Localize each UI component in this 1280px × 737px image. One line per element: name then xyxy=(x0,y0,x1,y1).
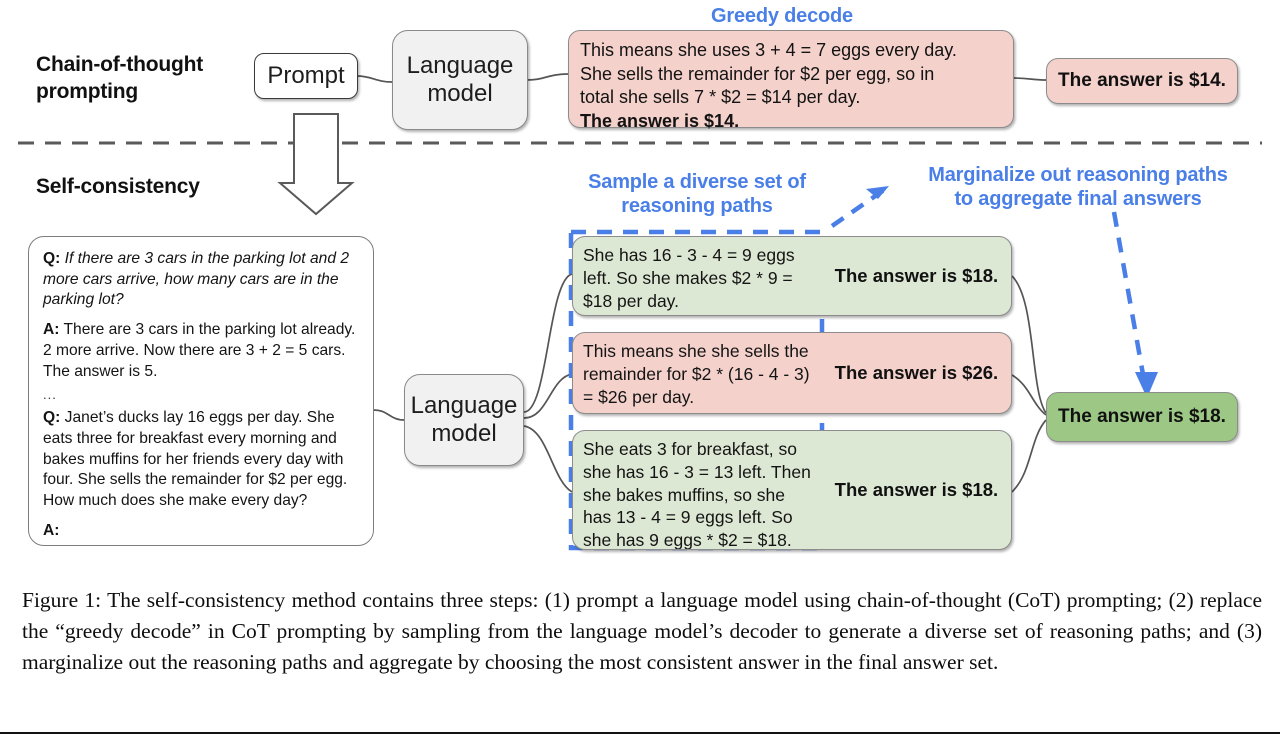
connector-path-3-to-final xyxy=(1012,420,1046,492)
reasoning-path-2-line-2: remainder for $2 * (16 - 4 - 3) xyxy=(583,363,813,386)
figure-1-self-consistency-diagram: Chain-of-thought prompting Prompt Langua… xyxy=(0,0,1280,737)
q1-label: Q: xyxy=(43,250,60,267)
figure-caption: Figure 1: The self-consistency method co… xyxy=(22,585,1262,678)
reasoning-path-row-3: She eats 3 for breakfast, so she has 16 … xyxy=(572,430,1012,550)
reasoning-path-2-text: This means she she sells the remainder f… xyxy=(573,333,822,413)
prompt-card-question-1: Q: If there are 3 cars in the parking lo… xyxy=(43,249,359,311)
cot-output-box: This means she uses 3 + 4 = 7 eggs every… xyxy=(568,30,1014,128)
reasoning-path-1-line-1: She has 16 - 3 - 4 = 9 eggs xyxy=(583,244,813,267)
prompt-box[interactable]: Prompt xyxy=(254,53,358,99)
cot-output-line-1: This means she uses 3 + 4 = 7 eggs every… xyxy=(580,39,1003,63)
sample-paths-header-line-2: reasoning paths xyxy=(568,194,826,218)
reasoning-path-2-answer-text: The answer is $26. xyxy=(835,362,999,384)
a1-label: A: xyxy=(43,321,59,338)
sc-language-model-label-line-1: Language xyxy=(411,392,518,420)
reasoning-path-3-line-1: She eats 3 for breakfast, so xyxy=(583,438,813,461)
marginalize-header: Marginalize out reasoning paths to aggre… xyxy=(890,163,1266,212)
marginalize-pointer-arrowhead xyxy=(866,186,889,199)
reasoning-path-1-answer-text: The answer is $18. xyxy=(835,265,999,287)
figure-caption-label: Figure 1: xyxy=(22,588,101,612)
reasoning-path-2-line-3: = $26 per day. xyxy=(583,386,813,409)
prompt-card-question-2: Q: Janet’s ducks lay 16 eggs per day. Sh… xyxy=(43,408,359,512)
reasoning-path-1-text: She has 16 - 3 - 4 = 9 eggs left. So she… xyxy=(573,237,822,315)
cot-section-title-line-1: Chain-of-thought xyxy=(36,52,276,79)
cot-output-line-3: total she sells 7 * $2 = $14 per day. xyxy=(580,86,1003,110)
cot-output-line-2: She sells the remainder for $2 per egg, … xyxy=(580,63,1003,87)
cot-section-title-line-2: prompting xyxy=(36,79,276,106)
marginalize-header-line-2: to aggregate final answers xyxy=(890,187,1266,211)
cot-language-model-box[interactable]: Language model xyxy=(392,30,528,130)
reasoning-path-3-line-2: she has 16 - 3 = 13 left. Then xyxy=(583,461,813,484)
reasoning-path-3-line-3: she bakes muffins, so she xyxy=(583,484,813,507)
few-shot-prompt-card: Q: If there are 3 cars in the parking lo… xyxy=(28,236,374,546)
marginalize-header-line-1: Marginalize out reasoning paths xyxy=(890,163,1266,187)
q2-text: Janet’s ducks lay 16 eggs per day. She e… xyxy=(43,409,347,509)
greedy-decode-header: Greedy decode xyxy=(632,4,932,28)
connector-model-to-path-2 xyxy=(524,374,572,418)
connector-card-to-model xyxy=(374,410,404,420)
a2-label: A: xyxy=(43,522,59,539)
reasoning-path-2-answer: The answer is $26. xyxy=(822,333,1011,413)
aggregated-final-answer-text: The answer is $18. xyxy=(1058,406,1226,428)
q1-text: If there are 3 cars in the parking lot a… xyxy=(43,250,349,308)
prompt-box-label: Prompt xyxy=(267,62,344,90)
self-consistency-section-title: Self-consistency xyxy=(36,174,336,201)
reasoning-path-3-answer-text: The answer is $18. xyxy=(835,479,999,501)
cot-section-title: Chain-of-thought prompting xyxy=(36,52,276,106)
connector-path-1-to-final xyxy=(1012,276,1046,413)
marginalize-pointer-arrow xyxy=(832,190,884,226)
aggregated-final-answer-box: The answer is $18. xyxy=(1046,392,1238,442)
cot-final-answer-text: The answer is $14. xyxy=(1058,70,1226,92)
connector-prompt-to-model xyxy=(357,76,392,82)
self-consistency-language-model-box[interactable]: Language model xyxy=(404,374,524,466)
a1-text: There are 3 cars in the parking lot alre… xyxy=(43,321,355,379)
connector-model-to-path-3 xyxy=(524,426,572,492)
figure-caption-text: The self-consistency method contains thr… xyxy=(22,588,1262,674)
reasoning-path-row-2: This means she she sells the remainder f… xyxy=(572,332,1012,414)
reasoning-path-1-answer: The answer is $18. xyxy=(822,237,1011,315)
cot-output-bold-answer-line: The answer is $14. xyxy=(580,110,1003,134)
sample-paths-header-line-1: Sample a diverse set of xyxy=(568,170,826,194)
sc-language-model-label-line-2: model xyxy=(411,420,518,448)
cot-final-answer-box: The answer is $14. xyxy=(1046,58,1238,104)
prompt-card-ellipsis: ... xyxy=(43,391,359,399)
greedy-decode-header-text: Greedy decode xyxy=(711,5,853,27)
self-consistency-title-text: Self-consistency xyxy=(36,175,200,198)
reasoning-path-2-line-1: This means she she sells the xyxy=(583,340,813,363)
reasoning-path-3-line-5: she has 9 eggs * $2 = $18. xyxy=(583,529,813,550)
reasoning-path-1-line-3: $18 per day. xyxy=(583,290,813,313)
prompt-card-answer-1: A: There are 3 cars in the parking lot a… xyxy=(43,320,359,382)
reasoning-path-3-line-4: has 13 - 4 = 9 eggs left. So xyxy=(583,506,813,529)
cot-language-model-label-line-1: Language xyxy=(407,52,514,80)
connector-model-to-path-1 xyxy=(524,274,572,412)
prompt-card-answer-2: A: xyxy=(43,521,359,542)
reasoning-path-row-1: She has 16 - 3 - 4 = 9 eggs left. So she… xyxy=(572,236,1012,316)
sample-paths-header: Sample a diverse set of reasoning paths xyxy=(568,170,826,219)
connector-output-to-answer xyxy=(1012,78,1046,80)
reasoning-path-3-answer: The answer is $18. xyxy=(822,431,1011,549)
connector-model-to-output xyxy=(527,74,568,80)
cot-language-model-label-line-2: model xyxy=(407,80,514,108)
aggregate-down-arrow xyxy=(1114,212,1144,380)
connector-path-2-to-final xyxy=(1012,375,1046,415)
q2-label: Q: xyxy=(43,409,60,426)
reasoning-path-1-line-2: left. So she makes $2 * 9 = xyxy=(583,267,813,290)
reasoning-path-3-text: She eats 3 for breakfast, so she has 16 … xyxy=(573,431,822,549)
